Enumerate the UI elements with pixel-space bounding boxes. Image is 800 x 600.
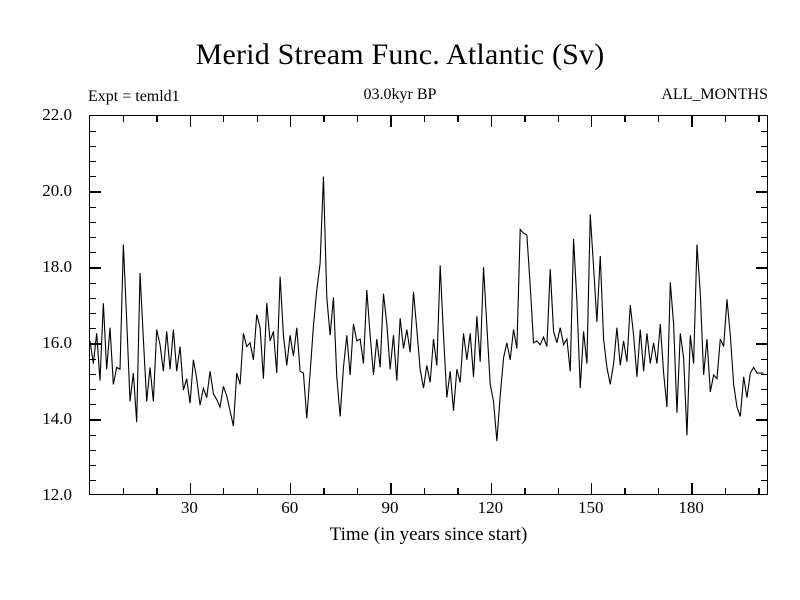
y-tick-right-minor <box>761 176 767 177</box>
y-axis-tick-label: 12.0 <box>42 485 72 505</box>
y-tick-right-major <box>756 419 767 420</box>
y-tick-left-major <box>90 191 101 192</box>
x-tick-top-minor <box>223 116 224 122</box>
x-tick-bottom-minor <box>524 488 525 494</box>
x-tick-top-minor <box>524 116 525 122</box>
x-tick-bottom-minor <box>156 488 157 494</box>
x-tick-bottom-minor <box>658 488 659 494</box>
y-tick-left-minor <box>90 480 96 481</box>
y-tick-left-minor <box>90 161 96 162</box>
x-tick-bottom-minor <box>357 488 358 494</box>
x-tick-top-major <box>491 116 492 127</box>
x-tick-top-major <box>691 116 692 127</box>
y-tick-right-minor <box>761 237 767 238</box>
y-tick-right-minor <box>761 313 767 314</box>
x-tick-bottom-minor <box>457 488 458 494</box>
y-tick-right-minor <box>761 283 767 284</box>
y-tick-left-minor <box>90 176 96 177</box>
y-tick-right-minor <box>761 480 767 481</box>
x-tick-bottom-minor <box>424 488 425 494</box>
x-tick-top-minor <box>257 116 258 122</box>
x-axis-tick-label: 30 <box>181 498 198 518</box>
y-tick-left-minor <box>90 252 96 253</box>
y-tick-left-major <box>90 343 101 344</box>
x-tick-bottom-major <box>290 483 291 494</box>
y-tick-left-minor <box>90 328 96 329</box>
y-tick-right-minor <box>761 435 767 436</box>
y-tick-left-minor <box>90 237 96 238</box>
y-tick-left-minor <box>90 404 96 405</box>
x-tick-top-major <box>290 116 291 127</box>
x-tick-top-major <box>190 116 191 127</box>
y-tick-right-minor <box>761 161 767 162</box>
y-axis-tick-label: 20.0 <box>42 181 72 201</box>
x-tick-bottom-minor <box>758 488 759 494</box>
x-tick-top-minor <box>758 116 759 122</box>
y-tick-left-major <box>90 419 101 420</box>
y-tick-right-minor <box>761 389 767 390</box>
y-tick-left-minor <box>90 374 96 375</box>
y-tick-left-minor <box>90 313 96 314</box>
chart-page: Merid Stream Func. Atlantic (Sv) Expt = … <box>0 0 800 600</box>
x-tick-top-minor <box>123 116 124 122</box>
x-tick-bottom-major <box>691 483 692 494</box>
y-tick-left-minor <box>90 283 96 284</box>
y-tick-right-minor <box>761 222 767 223</box>
y-tick-left-major <box>90 267 101 268</box>
y-axis-tick-label: 18.0 <box>42 257 72 277</box>
x-tick-bottom-minor <box>123 488 124 494</box>
x-tick-top-minor <box>725 116 726 122</box>
y-tick-left-minor <box>90 131 96 132</box>
y-tick-left-minor <box>90 465 96 466</box>
x-axis-tick-label: 150 <box>578 498 604 518</box>
y-tick-left-minor <box>90 389 96 390</box>
x-tick-top-minor <box>357 116 358 122</box>
x-tick-top-minor <box>558 116 559 122</box>
y-tick-right-major <box>756 267 767 268</box>
x-tick-top-major <box>591 116 592 127</box>
x-axis-tick-label: 90 <box>382 498 399 518</box>
page-title: Merid Stream Func. Atlantic (Sv) <box>0 38 800 72</box>
y-tick-right-minor <box>761 404 767 405</box>
x-tick-bottom-minor <box>257 488 258 494</box>
months-label: ALL_MONTHS <box>661 86 768 104</box>
y-tick-right-minor <box>761 359 767 360</box>
y-tick-left-minor <box>90 146 96 147</box>
y-tick-left-minor <box>90 435 96 436</box>
x-axis-title: Time (in years since start) <box>89 524 768 546</box>
x-tick-top-minor <box>156 116 157 122</box>
y-axis-tick-label: 14.0 <box>42 409 72 429</box>
x-axis-tick-label: 180 <box>678 498 704 518</box>
y-tick-right-minor <box>761 146 767 147</box>
y-tick-right-minor <box>761 252 767 253</box>
y-tick-right-minor <box>761 374 767 375</box>
y-tick-right-major <box>756 191 767 192</box>
x-tick-bottom-major <box>491 483 492 494</box>
y-tick-right-minor <box>761 328 767 329</box>
x-tick-top-minor <box>457 116 458 122</box>
x-tick-top-minor <box>424 116 425 122</box>
x-tick-bottom-major <box>390 483 391 494</box>
y-tick-left-minor <box>90 298 96 299</box>
x-tick-top-minor <box>323 116 324 122</box>
x-tick-bottom-minor <box>558 488 559 494</box>
series-line <box>90 116 767 494</box>
x-tick-bottom-minor <box>223 488 224 494</box>
x-tick-top-minor <box>624 116 625 122</box>
x-tick-bottom-major <box>591 483 592 494</box>
y-tick-left-minor <box>90 450 96 451</box>
y-tick-right-minor <box>761 450 767 451</box>
y-tick-left-minor <box>90 207 96 208</box>
y-tick-right-minor <box>761 298 767 299</box>
x-tick-bottom-minor <box>323 488 324 494</box>
x-axis-labels: 306090120150180 <box>89 498 768 524</box>
y-tick-right-major <box>756 343 767 344</box>
x-tick-top-major <box>390 116 391 127</box>
x-tick-bottom-major <box>190 483 191 494</box>
x-tick-bottom-minor <box>624 488 625 494</box>
x-axis-tick-label: 120 <box>478 498 504 518</box>
x-tick-top-minor <box>658 116 659 122</box>
x-tick-bottom-minor <box>725 488 726 494</box>
y-axis-tick-label: 16.0 <box>42 333 72 353</box>
y-axis-tick-label: 22.0 <box>42 105 72 125</box>
x-axis-tick-label: 60 <box>281 498 298 518</box>
y-tick-right-minor <box>761 465 767 466</box>
plot-area <box>89 115 768 495</box>
y-tick-left-minor <box>90 359 96 360</box>
y-axis-labels: 12.014.016.018.020.022.0 <box>0 115 80 495</box>
y-tick-right-minor <box>761 207 767 208</box>
y-tick-left-minor <box>90 222 96 223</box>
y-tick-right-minor <box>761 131 767 132</box>
